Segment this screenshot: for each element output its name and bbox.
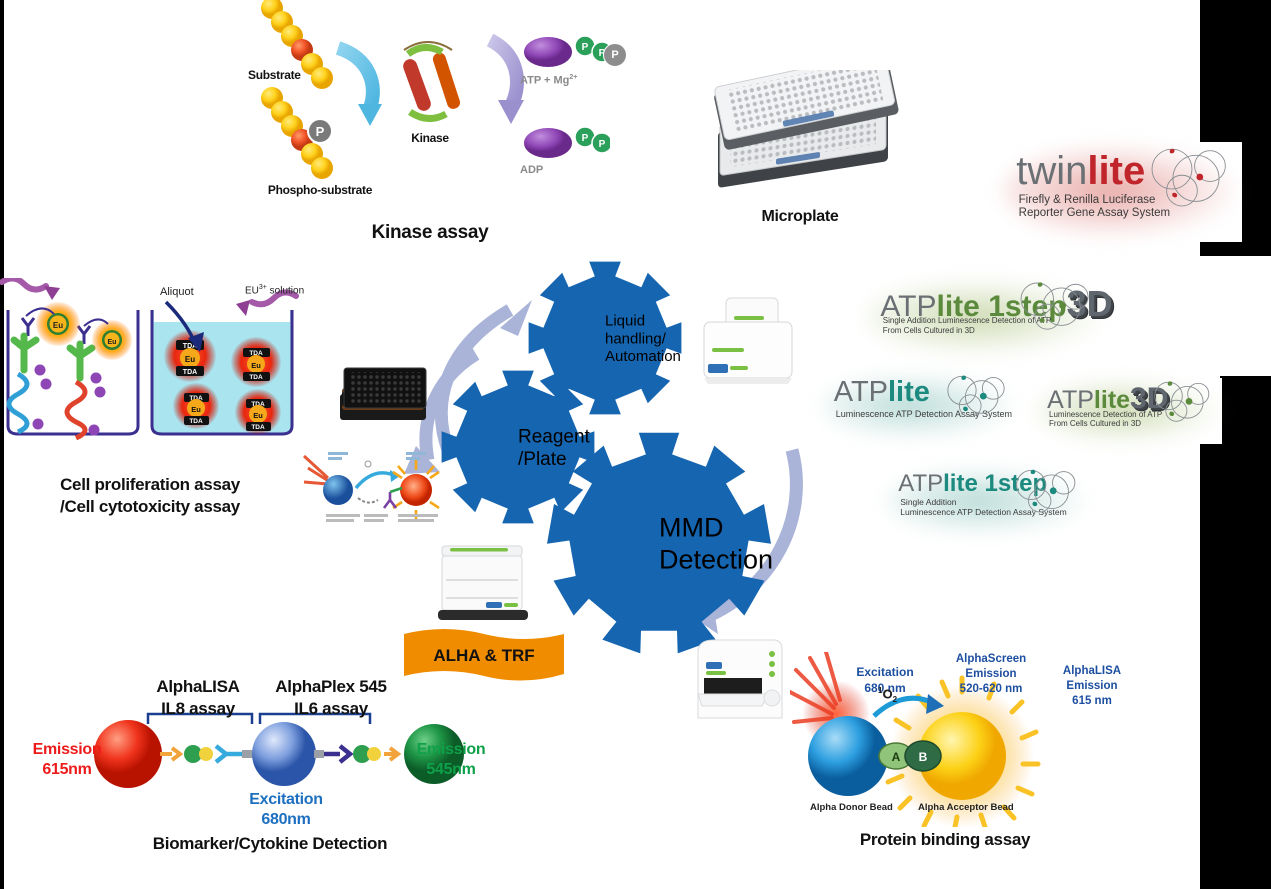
gear-label-line: Detection (659, 544, 773, 574)
gear-label-line: Automation (605, 348, 681, 365)
caption-kinase-assay: Kinase assay (330, 222, 530, 244)
caption-protein-binding: Protein binding assay (800, 830, 1090, 850)
logo-circle-motif (934, 372, 1016, 426)
svg-text:P: P (599, 139, 606, 150)
logo-word-prefix: ATP (834, 376, 888, 408)
panel-protein-binding: A B Excitation 680 nm AlphaScreen Emissi… (790, 652, 1220, 862)
label-atp: ATP + Mg2+ (520, 74, 577, 87)
svg-text:TDA: TDA (189, 418, 203, 425)
logo-word-accent: lite (888, 376, 930, 408)
label-alphalisa-il8: AlphaLISA IL8 assay (132, 676, 264, 720)
atp-phosphate-badge: P (603, 43, 627, 67)
svg-text:Eu: Eu (108, 339, 117, 346)
svg-text:TDA: TDA (183, 369, 197, 376)
gear-label-line: Liquid (605, 313, 645, 330)
banner-label: ALHA & TRF (400, 646, 568, 666)
logo-atplite-1step-3d: ATPlite 1step3DSingle Addition Luminesce… (866, 278, 1106, 356)
logo-circle-motif (1002, 466, 1088, 522)
label-alphalisa-emission: AlphaLISA Emission 615 nm (1040, 664, 1144, 709)
logo-circle-motif (1142, 378, 1220, 431)
microplate-graphic (700, 70, 900, 210)
label-adp: ADP (520, 164, 543, 176)
logo-word-prefix: ATP (898, 470, 943, 497)
logo-atplite: ATPliteLuminescence ATP Detection Assay … (822, 372, 1018, 440)
label-emission-615: Emission 615nm (12, 740, 122, 780)
svg-text:Eu: Eu (251, 361, 261, 370)
label-excitation-680: Excitation 680nm (222, 790, 350, 830)
gear-label-line: MMD (659, 513, 723, 543)
caption-biomarker: Biomarker/Cytokine Detection (110, 834, 430, 854)
label-singlet-oxygen: 1O2 (878, 686, 897, 704)
alpha-assay-thumbnail (302, 448, 452, 528)
logo-word-prefix: twin (1016, 149, 1087, 193)
label-alpha-acceptor-bead: Alpha Acceptor Bead (918, 802, 1014, 813)
svg-text:Eu: Eu (185, 355, 195, 364)
gear-label-line: /Plate (518, 449, 567, 470)
svg-text:A: A (892, 750, 901, 764)
gear-label-line: handling/ (605, 330, 667, 347)
label-emission-545: Emission 545nm (396, 740, 506, 780)
label-eu-solution: EU3+ solution (245, 284, 304, 296)
label-kinase: Kinase (390, 131, 470, 145)
svg-text:TDA: TDA (249, 374, 263, 381)
canvas-right-a (1200, 256, 1271, 376)
instrument-liquid-handler (700, 292, 800, 393)
cell-assay-graphic: Eu Eu TDA (0, 278, 320, 478)
label-phospho-substrate: Phospho-substrate (240, 183, 400, 197)
logo-wordmark: twinlite (1016, 149, 1145, 194)
svg-text:P: P (582, 133, 589, 144)
gear-mmd-detection: MMDDetection (547, 433, 773, 654)
logo-word-accent: lite (1087, 149, 1145, 193)
instrument-trf-reader (436, 540, 532, 633)
panel-cell-assay: Eu Eu TDA (0, 278, 320, 518)
gear-reagent-plate: Reagent/Plate (442, 371, 595, 524)
svg-text:Eu: Eu (253, 411, 263, 420)
logo-atplite-3d: ATPlite3DLuminescence Detection of ATP F… (1036, 378, 1222, 444)
svg-text:TDA: TDA (251, 424, 265, 431)
caption-microplate: Microplate (700, 208, 900, 226)
gear-liquid-handling: Liquidhandling/Automation (529, 262, 682, 415)
label-alphascreen-emission: AlphaScreen Emission 520-620 nm (926, 652, 1056, 697)
svg-text:B: B (919, 750, 928, 764)
logo-wordmark: ATPlite (834, 376, 930, 409)
svg-text:P: P (316, 124, 325, 139)
logo-atplite-1step: ATPlite 1stepSingle Addition Luminescenc… (886, 466, 1090, 536)
logo-circle-motif (1138, 143, 1238, 220)
panel-biomarker-detection: AlphaLISA IL8 assay AlphaPlex 545 IL6 as… (60, 672, 500, 872)
svg-text:Eu: Eu (53, 321, 63, 330)
label-alpha-donor-bead: Alpha Donor Bead (810, 802, 893, 813)
label-substrate: Substrate (248, 68, 301, 82)
gear-label-line: Reagent (518, 426, 591, 447)
instrument-mmd-reader (684, 634, 790, 737)
label-alphaplex-il6: AlphaPlex 545 IL6 assay (256, 676, 406, 720)
caption-cell-assay: Cell proliferation assay /Cell cytotoxic… (0, 474, 300, 518)
logo-twinlite: twinliteFirefly & Renilla Luciferase Rep… (1002, 143, 1240, 239)
logo-circle-motif (1003, 278, 1104, 340)
svg-text:P: P (582, 42, 589, 53)
panel-kinase-assay: P P P P (240, 0, 610, 250)
label-aliquot: Aliquot (160, 286, 194, 298)
figure-canvas: P P P P (0, 0, 1271, 889)
instrument-plate-stack-black (334, 366, 438, 437)
gear-body (547, 433, 771, 654)
kinase-assay-graphic: P P P P (240, 0, 610, 250)
svg-text:Eu: Eu (191, 405, 201, 414)
panel-microplate: Microplate (700, 70, 900, 240)
